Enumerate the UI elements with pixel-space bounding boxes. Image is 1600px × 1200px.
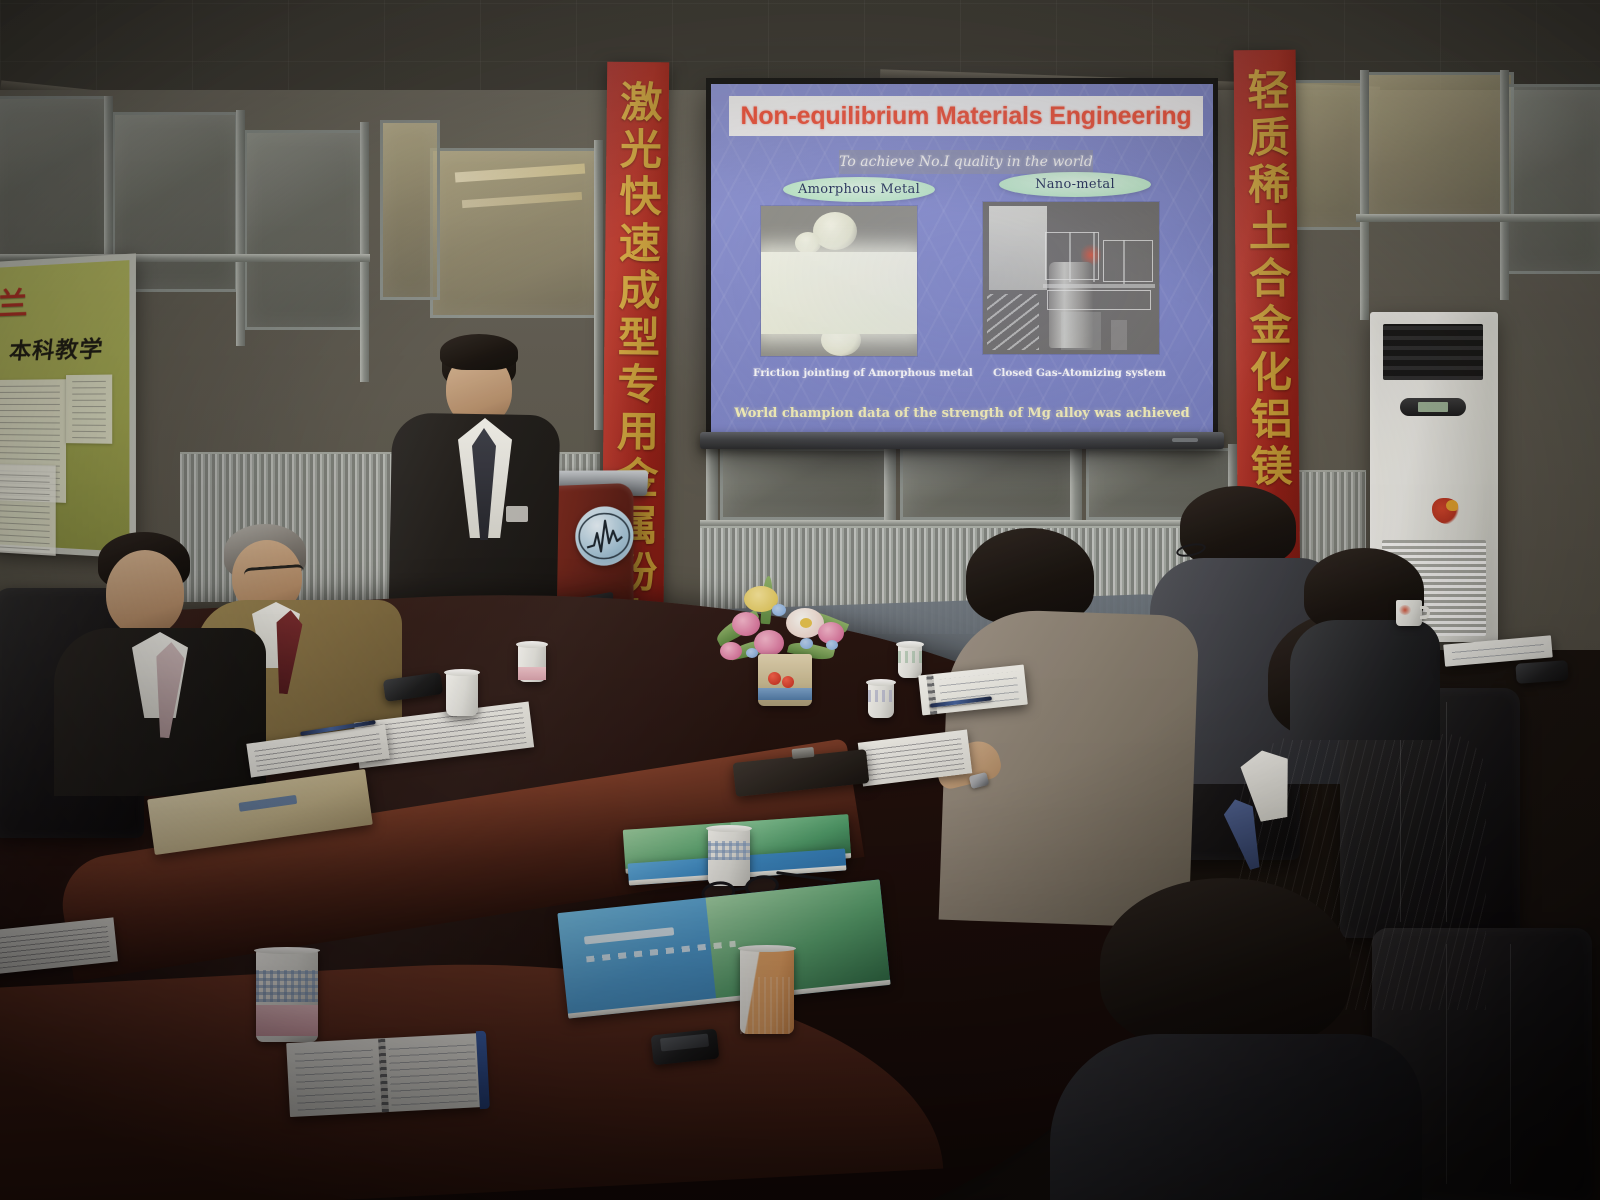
glass-partition-right-edge — [1504, 84, 1600, 274]
flower-arrangement — [700, 568, 870, 708]
air-conditioner-decal-icon — [1432, 498, 1460, 524]
cup-rim — [254, 947, 320, 954]
presenter-badge — [506, 506, 528, 522]
cup-checkered-pattern — [708, 841, 750, 861]
brochure-title-line — [584, 927, 674, 944]
phone-screen — [660, 1033, 709, 1052]
air-conditioner-vent — [1383, 324, 1483, 380]
flower-carnation — [720, 642, 742, 660]
slide-photo-gas-atomizing-system — [983, 202, 1159, 354]
notebook-lines-left-page — [295, 1045, 376, 1111]
glass-partition-left-3 — [244, 130, 364, 330]
paper-cup-checkered — [708, 828, 750, 886]
paper-cup-orange-sleeve — [740, 948, 794, 1034]
cup-rim — [516, 641, 548, 648]
mug-decoration — [1399, 605, 1411, 615]
pot-cherry-motif — [768, 672, 781, 685]
window-mullion-6 — [1500, 70, 1509, 300]
papers-text — [0, 923, 110, 969]
notice-board-red-text: 兰 — [0, 278, 23, 323]
window-mullion-3 — [360, 122, 369, 382]
presenter-hair-top — [440, 334, 518, 370]
cup-rim — [896, 641, 924, 648]
paper-cup-checkered-bottom-left — [256, 950, 318, 1042]
projection-screen-weight-bar — [700, 432, 1224, 449]
attendee-foreground-hair — [1100, 878, 1350, 1050]
slide-label-nano-metal-text: Nano-metal — [1035, 177, 1115, 192]
flower-forget-me-not — [772, 604, 786, 616]
screen-bar-knob — [1172, 438, 1198, 442]
mug-handle — [1420, 606, 1430, 619]
slide-title-band: Non-equilibrium Materials Engineering — [729, 96, 1203, 136]
cup-sleeve — [740, 977, 794, 1034]
window-mullion-2 — [236, 110, 245, 346]
projection-screen[interactable]: Non-equilibrium Materials Engineering To… — [706, 78, 1218, 448]
flower-carnation — [732, 612, 760, 636]
attendee-right-back — [1290, 548, 1440, 728]
notice-paper-3 — [0, 464, 56, 556]
flower-carnation — [754, 630, 784, 656]
paper-cup-pink-left — [518, 644, 546, 682]
cup-pattern — [868, 690, 894, 702]
paper-cup-white-left — [446, 672, 478, 716]
air-conditioner-display — [1418, 402, 1448, 412]
flower-pot — [758, 654, 812, 706]
flower-forget-me-not — [800, 638, 813, 649]
slide-title: Non-equilibrium Materials Engineering — [741, 102, 1192, 131]
cup-checkered-pattern — [256, 970, 318, 1001]
attendee-right-taupe — [930, 528, 1210, 928]
slide-caption-left: Friction jointing of Amorphous metal — [753, 367, 973, 379]
folder-label — [239, 795, 298, 812]
attendee-foreground-bottom — [1060, 878, 1420, 1200]
slide-photo-friction-jointing — [761, 206, 917, 356]
cup-rim — [738, 945, 796, 952]
cup-rim — [444, 669, 480, 676]
paper-cup-white-center-2 — [868, 682, 894, 718]
projected-slide: Non-equilibrium Materials Engineering To… — [711, 84, 1213, 440]
window-mullion-4 — [594, 140, 603, 430]
notebook-lines-right-page — [388, 1039, 477, 1105]
glass-partition-right-far — [1364, 72, 1514, 222]
flower-forget-me-not — [746, 648, 758, 658]
glass-partition-behind-screen-1 — [720, 448, 890, 520]
notice-paper-2 — [66, 375, 112, 444]
window-transom-right — [1356, 214, 1600, 222]
flower-daisy-center — [800, 618, 812, 628]
mobile-phone-far-right[interactable] — [1515, 660, 1568, 684]
cup-rim — [866, 679, 896, 686]
notebook-spiral-binding — [926, 674, 937, 715]
coffee-mug — [1396, 600, 1422, 626]
conference-room-scene: 兰 本科教学 激光快速成型专用金属粉末的开发项目 Non-equilibrium… — [0, 0, 1600, 1200]
slide-subtitle: To achieve No.I quality in the world — [839, 154, 1093, 170]
slide-label-amorphous-metal-text: Amorphous Metal — [798, 182, 920, 197]
notice-board[interactable]: 兰 本科教学 — [0, 253, 136, 558]
window-mullion-5 — [1360, 70, 1369, 320]
cup-rim — [706, 825, 752, 832]
podium-logo-icon — [575, 506, 633, 566]
papers-text — [865, 735, 964, 780]
slide-subtitle-band: To achieve No.I quality in the world — [839, 150, 1093, 174]
attendee-right-back-jacket — [1290, 620, 1440, 740]
pot-cherry-motif — [782, 676, 794, 688]
notebook-lines — [1452, 642, 1545, 660]
notice-board-title: 本科教学 — [8, 331, 106, 366]
air-conditioner-control-panel[interactable] — [1400, 398, 1466, 416]
glass-partition-far-bright — [380, 120, 440, 300]
cup-pink-band — [256, 1005, 318, 1036]
glass-partition-behind-screen-2 — [900, 448, 1076, 520]
slide-label-amorphous-metal: Amorphous Metal — [783, 177, 935, 202]
spiral-notebook-foreground[interactable] — [286, 1033, 486, 1117]
slide-footer-text: World champion data of the strength of M… — [711, 406, 1213, 421]
pot-band — [758, 688, 812, 700]
notebook-spiral-binding — [378, 1038, 389, 1112]
flower-forget-me-not — [826, 640, 838, 650]
attendee-foreground-jacket — [1050, 1034, 1422, 1200]
slide-caption-right: Closed Gas-Atomizing system — [993, 367, 1166, 379]
cup-pink-band — [518, 667, 546, 680]
paper-cup-white-center — [898, 644, 922, 678]
attendee-right-taupe-hair — [966, 528, 1094, 624]
glass-partition-left-1 — [0, 96, 110, 266]
attendee-left-front — [58, 532, 268, 782]
cup-pattern — [898, 651, 922, 663]
slide-label-nano-metal: Nano-metal — [999, 172, 1151, 197]
chair-seam — [1510, 944, 1511, 1184]
attendee-left-front-head — [106, 550, 184, 636]
